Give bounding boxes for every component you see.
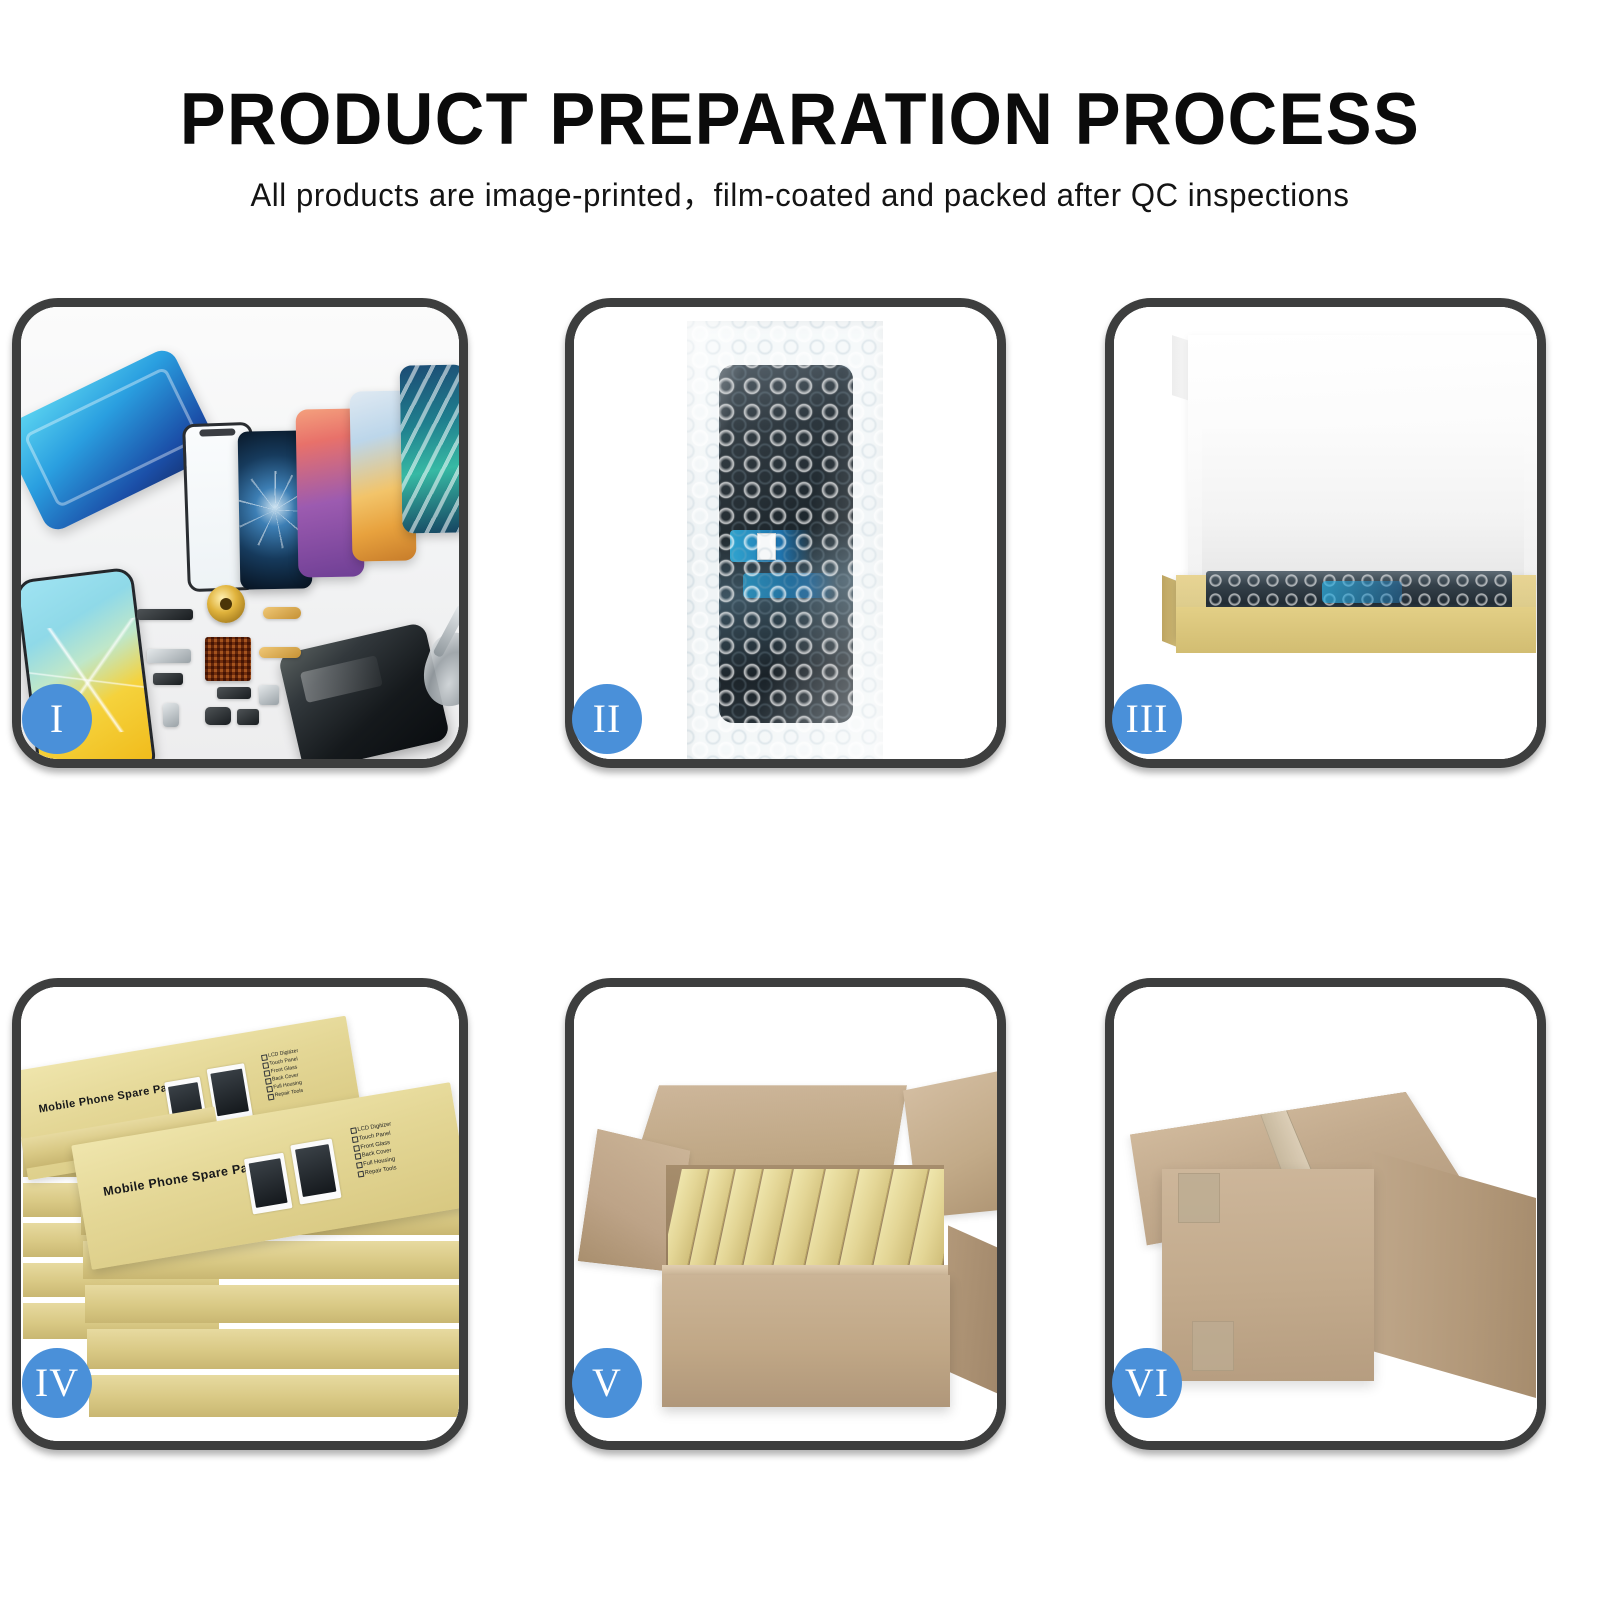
retail-box-stack-layer (87, 1329, 459, 1369)
step-badge-3-numeral: III (1126, 699, 1169, 739)
step-badge-2: II (572, 684, 642, 754)
carton-side-right (948, 1225, 997, 1394)
retail-box-stack-layer (85, 1285, 459, 1323)
small-chip-part (237, 709, 259, 725)
step-badge-6: VI (1112, 1348, 1182, 1418)
step-badge-5-numeral: V (592, 1363, 622, 1403)
step-badge-4-numeral: IV (35, 1363, 79, 1403)
ic-chip-part (205, 637, 251, 681)
teal-phone-part (400, 364, 459, 533)
parts-montage-illustration (21, 307, 459, 759)
step-card-3-image (1114, 307, 1537, 759)
charging-coil-part (207, 585, 245, 623)
step-badge-1: I (22, 684, 92, 754)
inner-box-illustration (1114, 307, 1537, 759)
step-badge-6-numeral: VI (1125, 1363, 1169, 1403)
step-card-2-image (574, 307, 997, 759)
bubble-wrap-illustration (574, 307, 997, 759)
step-card-1-image (21, 307, 459, 759)
connector-part (153, 673, 183, 685)
step-badge-5: V (572, 1348, 642, 1418)
retail-box-label-checklist: LCD Digitizer Touch Panel Front Glass Ba… (261, 1048, 306, 1101)
retail-box-stack-layer (89, 1375, 459, 1417)
retail-box-label-checklist: LCD Digitizer Touch Panel Front Glass Ba… (350, 1120, 399, 1179)
sealed-carton-side (1372, 1151, 1536, 1398)
carton-front-face (662, 1275, 950, 1407)
step-badge-1-numeral: I (50, 699, 64, 739)
packing-tape-patch-upper (1178, 1173, 1220, 1223)
speaker-part (259, 685, 279, 705)
plastic-sheen (687, 321, 883, 759)
mailer-tray-front (1176, 607, 1536, 653)
earpiece-mesh-part (137, 609, 193, 620)
bubble-wrap-bag (687, 321, 883, 759)
camera-module-part (217, 687, 251, 699)
flex-cable-part (263, 607, 301, 619)
vibrator-part (205, 707, 231, 725)
process-step-grid: I II (0, 0, 1600, 1600)
foam-pad (1202, 429, 1524, 577)
phone-chassis-part (277, 622, 450, 759)
sim-tray-part (163, 703, 179, 727)
gold-boxes-row (668, 1169, 944, 1279)
step-badge-2-numeral: II (593, 699, 622, 739)
packing-tape-patch-lower (1192, 1321, 1234, 1371)
bracket-part (147, 649, 191, 663)
step-badge-3: III (1112, 684, 1182, 754)
step-badge-4: IV (22, 1348, 92, 1418)
volume-flex-part (259, 647, 301, 658)
